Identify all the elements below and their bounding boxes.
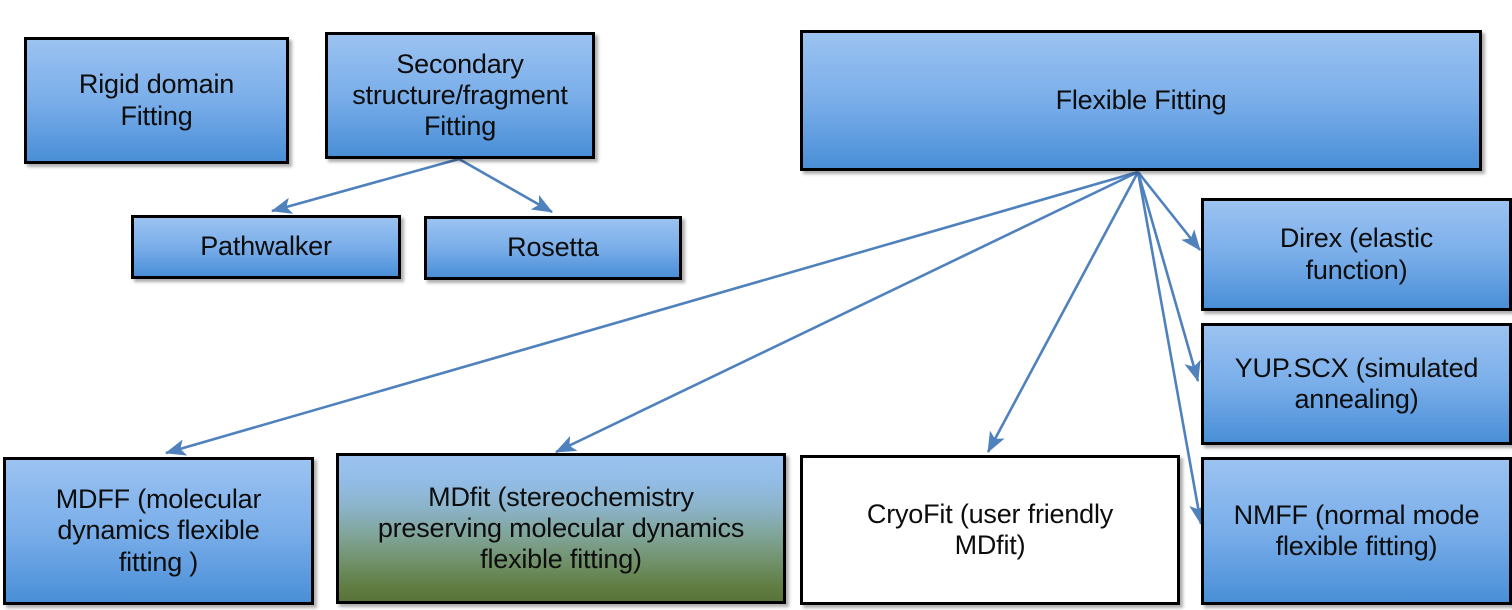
node-direx[interactable]: Direx (elastic function)	[1201, 198, 1512, 311]
edge-flexible-to-mdfit	[556, 172, 1138, 452]
node-label-mdfit: MDfit (stereochemistry preserving molecu…	[347, 482, 775, 576]
node-nmff[interactable]: NMFF (normal mode flexible fitting)	[1201, 457, 1512, 605]
node-mdfit[interactable]: MDfit (stereochemistry preserving molecu…	[336, 453, 786, 604]
node-label-pathwalker: Pathwalker	[142, 231, 390, 262]
node-label-rigid-domain-fitting: Rigid domain Fitting	[35, 69, 278, 132]
node-rosetta[interactable]: Rosetta	[424, 216, 682, 280]
edge-secondary-to-pathwalker	[272, 159, 459, 211]
node-mdff[interactable]: MDFF (molecular dynamics flexible fittin…	[3, 457, 314, 605]
edge-flexible-to-direx	[1138, 172, 1200, 250]
node-label-mdff: MDFF (molecular dynamics flexible fittin…	[14, 484, 303, 578]
node-pathwalker[interactable]: Pathwalker	[131, 215, 401, 279]
node-flexible-fitting[interactable]: Flexible Fitting	[800, 30, 1482, 171]
node-label-flexible-fitting: Flexible Fitting	[811, 85, 1471, 116]
node-label-secondary-structure-fragment-fitting: Secondary structure/fragment Fitting	[336, 49, 584, 143]
edge-flexible-to-cryofit	[988, 172, 1138, 452]
node-label-nmff: NMFF (normal mode flexible fitting)	[1212, 500, 1501, 563]
edge-secondary-to-rosetta	[459, 159, 552, 212]
diagram-canvas: Rigid domain FittingSecondary structure/…	[0, 0, 1512, 610]
node-secondary-structure-fragment-fitting[interactable]: Secondary structure/fragment Fitting	[325, 32, 595, 159]
node-label-yup-scx: YUP.SCX (simulated annealing)	[1212, 353, 1501, 416]
node-yup-scx[interactable]: YUP.SCX (simulated annealing)	[1201, 323, 1512, 445]
node-label-rosetta: Rosetta	[435, 232, 671, 263]
node-label-direx: Direx (elastic function)	[1212, 223, 1501, 286]
edge-flexible-to-yupscx	[1138, 172, 1198, 381]
node-label-cryofit: CryoFit (user friendly MDfit)	[811, 499, 1169, 562]
node-rigid-domain-fitting[interactable]: Rigid domain Fitting	[24, 37, 289, 164]
node-cryofit[interactable]: CryoFit (user friendly MDfit)	[800, 455, 1180, 605]
